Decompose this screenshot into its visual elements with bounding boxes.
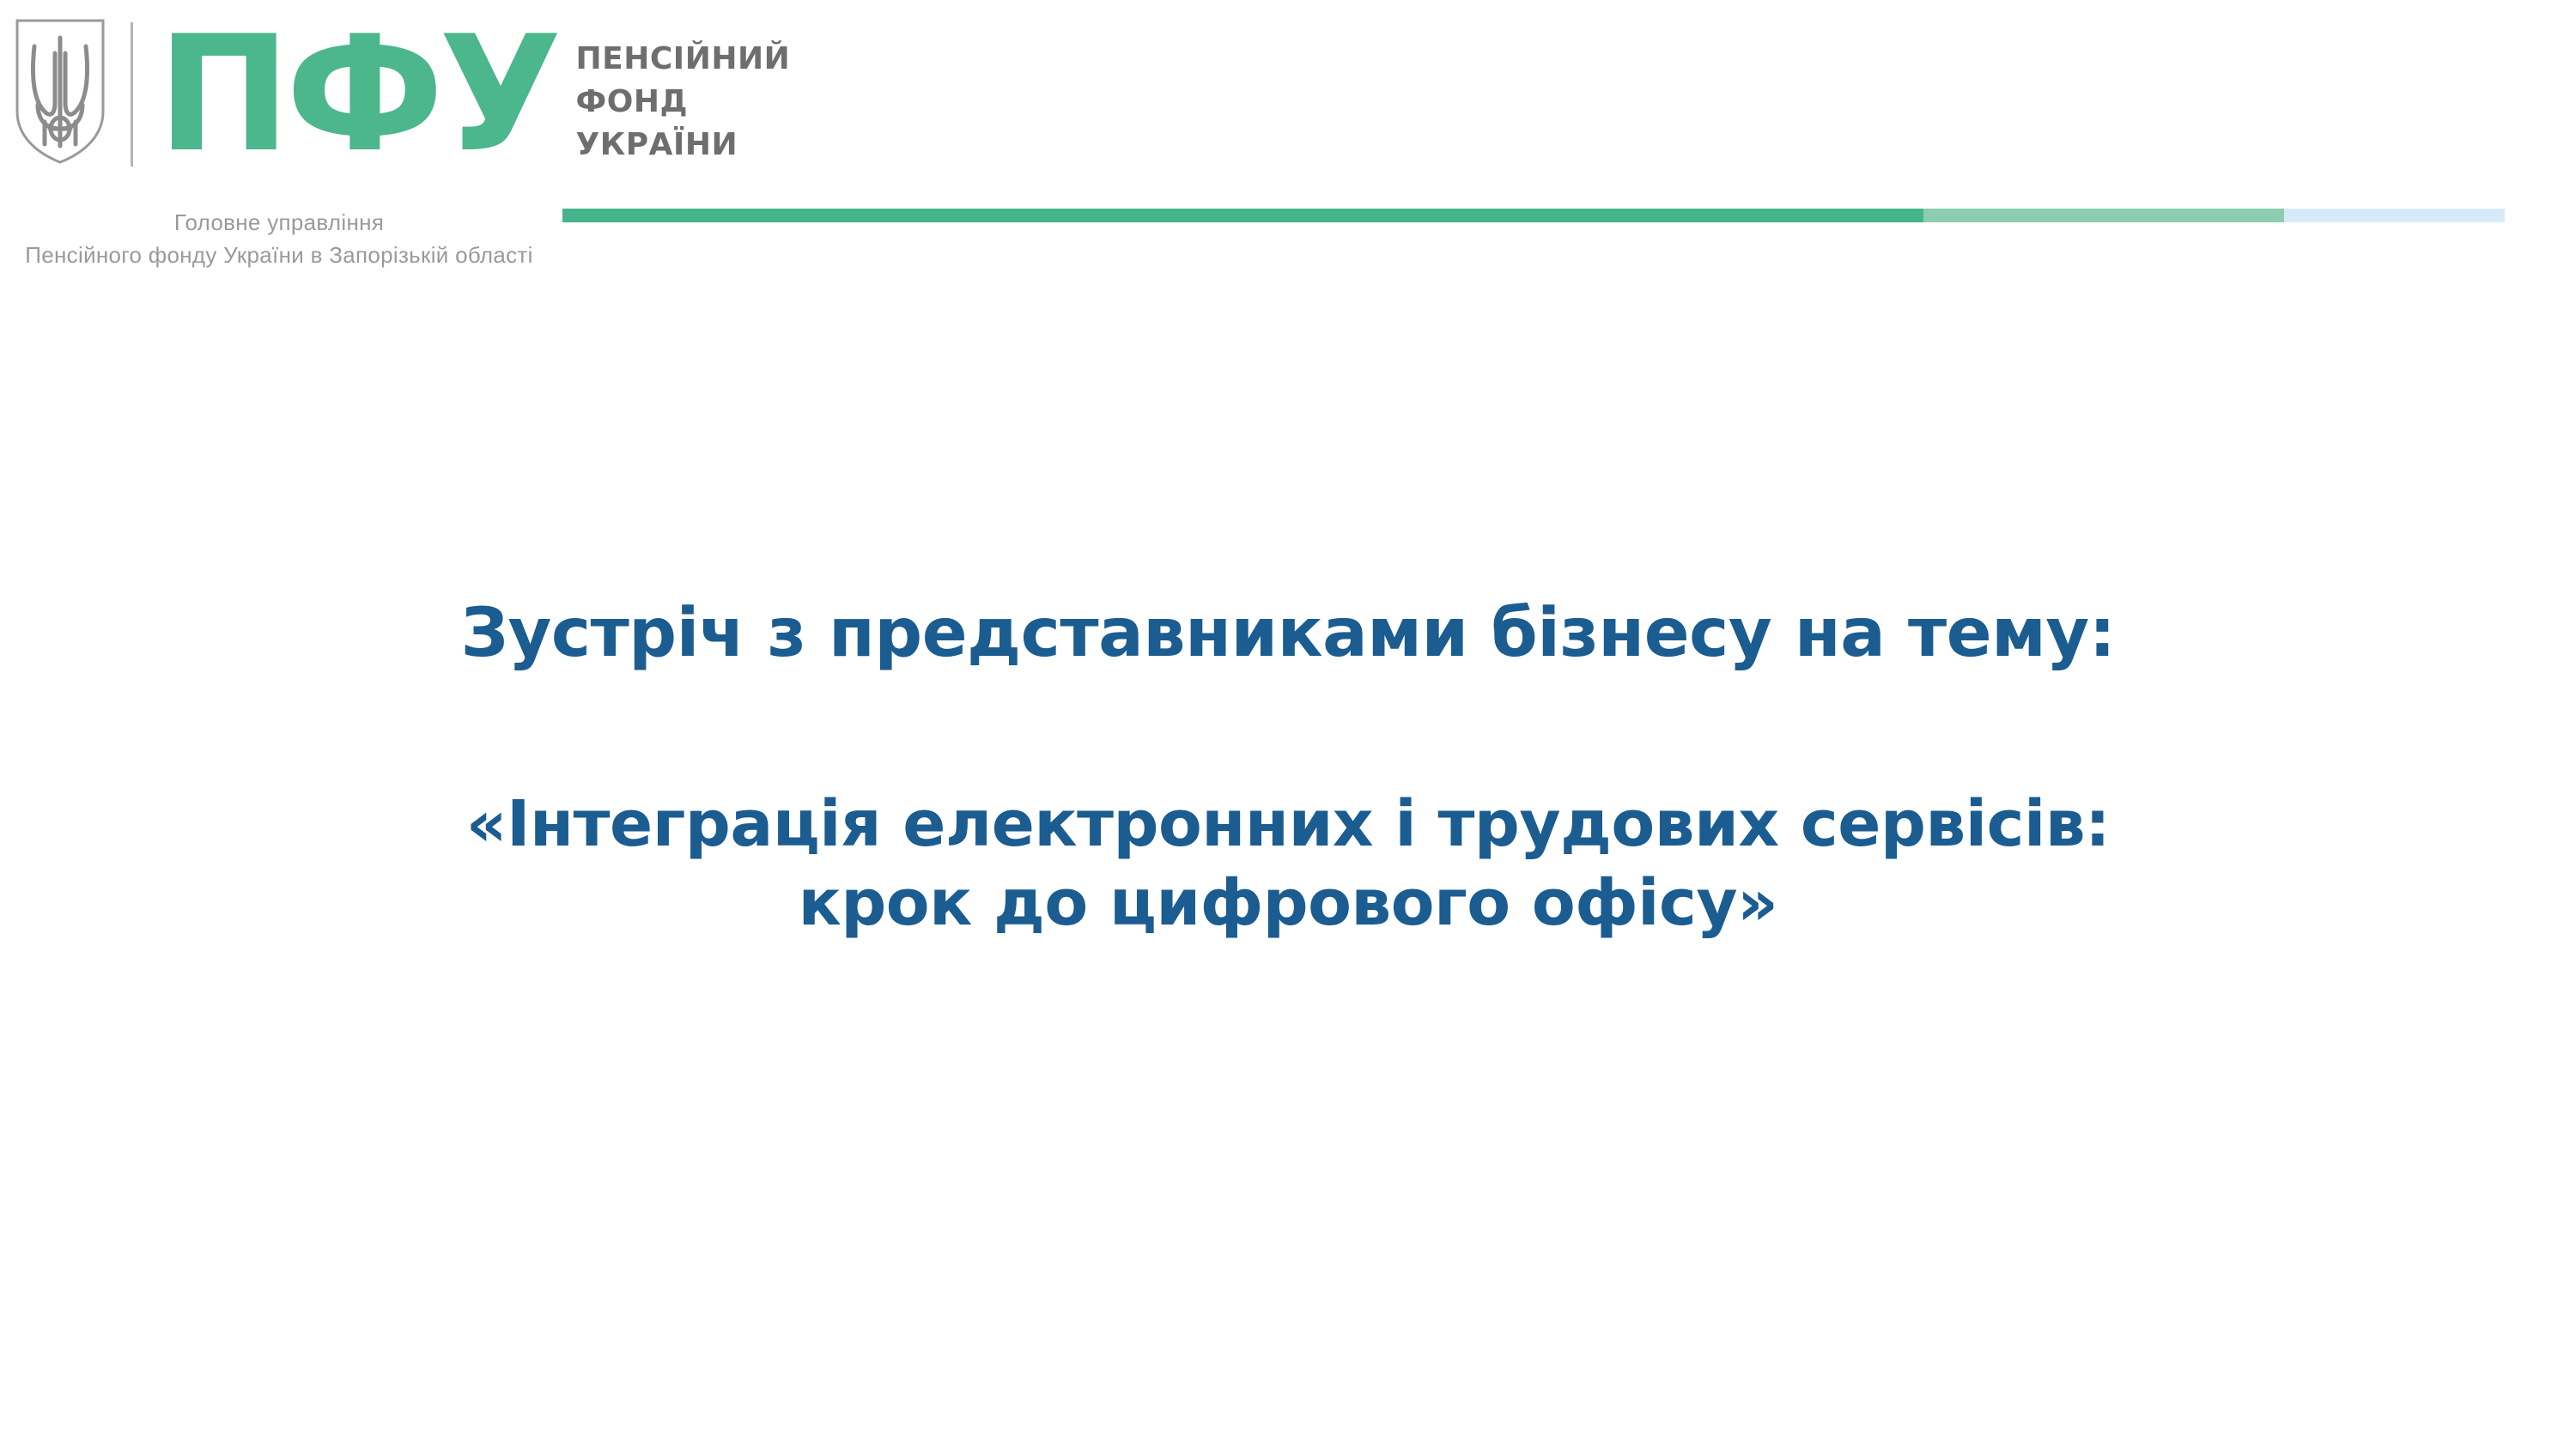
accent-rule (562, 209, 2505, 222)
vertical-divider-icon (131, 22, 133, 167)
org-caption-line-2: Пенсійного фонду України в Запорізькій о… (0, 239, 558, 271)
pfu-logo-lockup: ПФУ ПЕНСІЙНИЙ ФОНД УКРАЇНИ (12, 15, 790, 170)
slide-title-block: Зустріч з представниками бізнесу на тему… (0, 592, 2576, 943)
page-title: Зустріч з представниками бізнесу на тему… (0, 592, 2576, 675)
wordmark-line-3: УКРАЇНИ (576, 124, 791, 167)
wordmark-line-2: ФОНД (576, 81, 791, 124)
accent-rule-segment-primary (562, 209, 1923, 222)
ukraine-trident-emblem-icon (12, 15, 108, 167)
slide-subtitle-line-2: крок до цифрового офісу» (0, 864, 2576, 943)
slide-subtitle-line-1: «Інтеграція електронних і трудових серві… (0, 785, 2576, 864)
organization-caption: Головне управління Пенсійного фонду Укра… (0, 206, 558, 271)
accent-rule-segment-secondary (1923, 209, 2284, 222)
letterhead-header: ПФУ ПЕНСІЙНИЙ ФОНД УКРАЇНИ Головне управ… (0, 0, 2576, 275)
org-caption-line-1: Головне управління (0, 206, 558, 239)
pfu-abbreviation-wordmark: ПФУ (157, 19, 557, 170)
pfu-full-wordmark: ПЕНСІЙНИЙ ФОНД УКРАЇНИ (576, 38, 791, 167)
title-spacer (0, 675, 2576, 785)
accent-rule-segment-tertiary (2284, 209, 2505, 222)
wordmark-line-1: ПЕНСІЙНИЙ (576, 38, 791, 81)
